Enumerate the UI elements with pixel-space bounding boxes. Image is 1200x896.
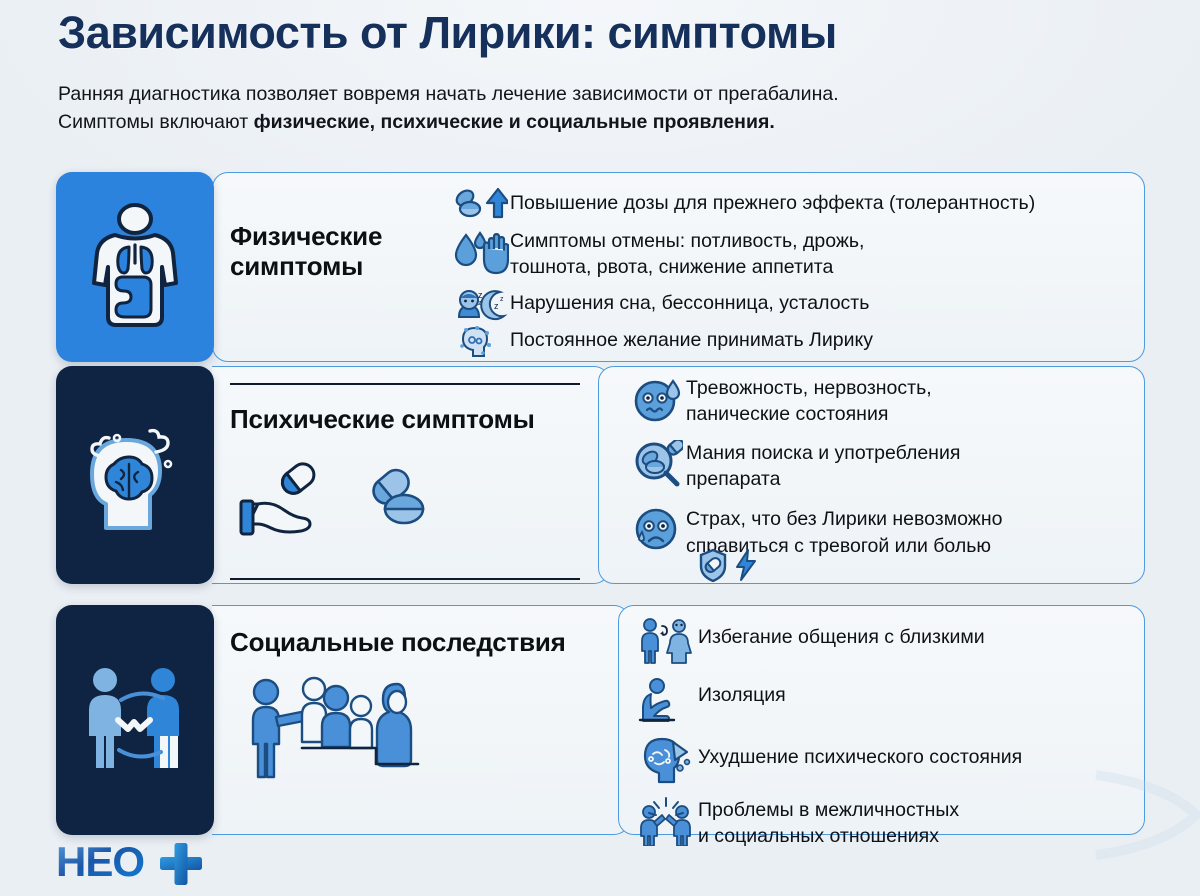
craving-head-icon: [452, 325, 510, 359]
list-item-text: Постоянное желание принимать Лирику: [510, 325, 873, 352]
card-social-list: Избегание общения с близкими Изоляция: [634, 618, 1134, 849]
card-social-extra-icon: [240, 662, 470, 797]
list-item: Ухудшение психического состояния: [634, 736, 1134, 784]
decorative-swoosh: [1086, 770, 1200, 860]
list-item: Постоянное желание принимать Лирику: [452, 325, 1142, 359]
list-item-text: Избегание общения с близкими: [698, 618, 985, 649]
hand-capsule-icon: [238, 458, 336, 536]
list-item-text-line1: Симптомы отмены: потливость, дрожь,: [510, 228, 864, 254]
list-item: Тревожность, нервозность, панические сос…: [630, 375, 1140, 428]
sitting-alone-icon: [634, 678, 698, 722]
anxious-face-icon: [630, 375, 686, 423]
list-item-text: Тревожность, нервозность, панические сос…: [686, 375, 932, 428]
card-mental-bottom-rule: [230, 578, 580, 580]
card-mental-icon-panel: [56, 366, 214, 584]
card-physical-title-line2: симптомы: [230, 252, 445, 282]
logo-text: НЕО: [56, 840, 144, 885]
card-social-title: Социальные последствия: [230, 628, 630, 658]
list-item: Повышение дозы для прежнего эффекта (тол…: [452, 186, 1142, 220]
card-social-icon-panel: [56, 605, 214, 835]
head-broken-mind-icon: [634, 736, 698, 784]
list-item-text-line1: Страх, что без Лирики невозможно: [686, 506, 1002, 532]
list-item-text-line1: Мания поиска и употребления: [686, 440, 960, 466]
card-mental-extra-icons: [238, 458, 432, 536]
shield-pill-icon: [698, 548, 728, 582]
list-item-text: Ухудшение психического состояния: [698, 736, 1022, 769]
sweat-drops-hand-icon: [452, 228, 510, 278]
two-people-handshake-icon: [75, 664, 195, 776]
svg-text:z: z: [494, 301, 499, 311]
list-item-text: Мания поиска и употребления препарата: [686, 440, 960, 493]
header: Зависимость от Лирики: симптомы Ранняя д…: [58, 8, 1168, 136]
list-item: Мания поиска и употребления препарата: [630, 440, 1140, 493]
list-item-text-line2: препарата: [686, 466, 960, 492]
page-subtitle: Ранняя диагностика позволяет вовремя нач…: [58, 80, 1153, 137]
subtitle-line-1: Ранняя диагностика позволяет вовремя нач…: [58, 83, 839, 105]
list-item-text: Нарушения сна, бессонница, усталость: [510, 287, 869, 315]
brand-logo: НЕО: [56, 840, 216, 886]
list-item: z z z z Нарушения сна, бессонница, устал…: [452, 287, 1142, 323]
card-mental-title: Психические симптомы: [230, 405, 590, 435]
list-item-text: Изоляция: [698, 678, 786, 707]
sleepy-face-moon-icon: z z z z: [452, 287, 510, 323]
card-mental-list: Тревожность, нервозность, панические сос…: [630, 375, 1140, 559]
card-physical-title: Физические симптомы: [230, 222, 445, 281]
conflict-people-icon: [634, 796, 698, 846]
pills-up-arrow-icon: [452, 186, 510, 220]
logo-plus-icon: [160, 843, 202, 885]
head-brain-icon: [76, 416, 194, 534]
list-item-text-line2: и социальных отношениях: [698, 824, 959, 850]
list-item: Симптомы отмены: потливость, дрожь, тошн…: [452, 228, 1142, 281]
card-physical-list: Повышение дозы для прежнего эффекта (тол…: [452, 186, 1142, 359]
list-item: Изоляция: [634, 678, 1134, 722]
page-title: Зависимость от Лирики: симптомы: [58, 8, 1168, 58]
lightning-bolt-icon: [734, 548, 758, 582]
list-item-text: Повышение дозы для прежнего эффекта (тол…: [510, 186, 1035, 217]
card-mental-top-rule: [230, 383, 580, 385]
card-physical-title-line1: Физические: [230, 222, 445, 252]
list-item-text-line1: Проблемы в межличностных: [698, 798, 959, 824]
group-isolation-scene-icon: [240, 662, 470, 797]
infographic-page: Зависимость от Лирики: симптомы Ранняя д…: [0, 0, 1200, 896]
subtitle-line-2-bold: физические, психические и социальные про…: [254, 111, 775, 133]
magnifier-pills-icon: [630, 440, 686, 488]
card-physical-icon-panel: [56, 172, 214, 362]
list-item-text: Симптомы отмены: потливость, дрожь, тошн…: [510, 228, 864, 281]
list-item: Проблемы в межличностных и социальных от…: [634, 796, 1134, 849]
human-body-organs-icon: [85, 201, 185, 333]
list-item-text-line2: панические состояния: [686, 401, 932, 427]
pills-pair-icon: [362, 465, 432, 529]
list-item-text-line1: Тревожность, нервозность,: [686, 375, 932, 401]
list-item-text-line2: тошнота, рвота, снижение аппетита: [510, 254, 864, 280]
card-mental-footer-icons: [698, 548, 758, 582]
svg-text:z: z: [500, 296, 504, 303]
list-item: Избегание общения с близкими: [634, 618, 1134, 664]
list-item-text: Проблемы в межличностных и социальных от…: [698, 796, 959, 849]
avoiding-people-icon: [634, 618, 698, 664]
worried-face-icon: [630, 506, 686, 554]
subtitle-line-2-normal: Симптомы включают: [58, 111, 254, 133]
